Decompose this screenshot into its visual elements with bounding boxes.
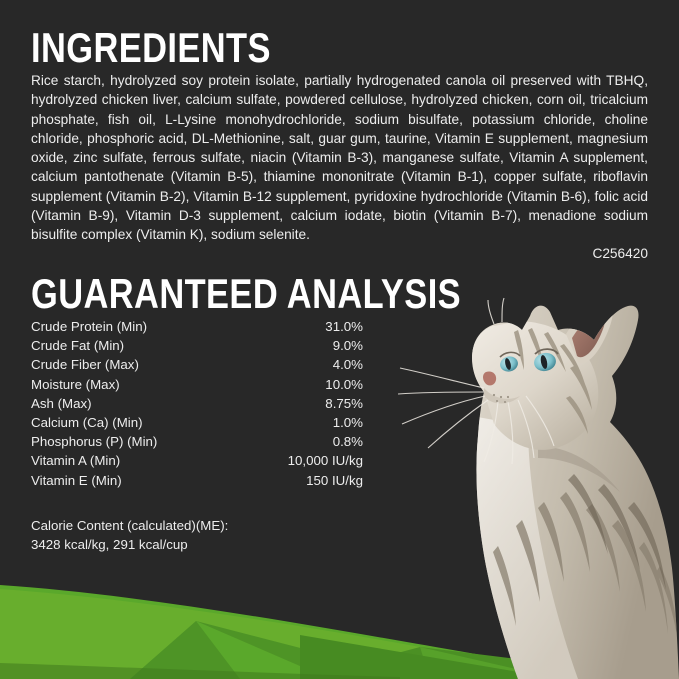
ingredients-text: Rice starch, hydrolyzed soy protein isol… [31, 73, 648, 242]
ingredients-text-block: Rice starch, hydrolyzed soy protein isol… [31, 71, 648, 263]
analysis-label: Crude Fiber (Max) [31, 355, 239, 374]
cat-body [398, 296, 679, 679]
guaranteed-analysis-table: Crude Protein (Min)31.0%Crude Fat (Min)9… [31, 317, 363, 490]
analysis-value: 150 IU/kg [239, 471, 363, 490]
analysis-label: Vitamin E (Min) [31, 471, 239, 490]
analysis-value: 8.75% [239, 394, 363, 413]
analysis-value: 0.8% [239, 432, 363, 451]
analysis-value: 10,000 IU/kg [239, 451, 363, 470]
analysis-label: Crude Fat (Min) [31, 336, 239, 355]
table-row: Moisture (Max)10.0% [31, 375, 363, 394]
table-row: Crude Protein (Min)31.0% [31, 317, 363, 336]
guaranteed-analysis-body: Crude Protein (Min)31.0%Crude Fat (Min)9… [31, 317, 363, 490]
analysis-label: Calcium (Ca) (Min) [31, 413, 239, 432]
analysis-value: 1.0% [239, 413, 363, 432]
analysis-value: 9.0% [239, 336, 363, 355]
analysis-value: 10.0% [239, 375, 363, 394]
product-label-panel: INGREDIENTS Rice starch, hydrolyzed soy … [0, 0, 679, 679]
table-row: Vitamin E (Min)150 IU/kg [31, 471, 363, 490]
table-row: Ash (Max)8.75% [31, 394, 363, 413]
calorie-content-value: 3428 kcal/kg, 291 kcal/cup [31, 535, 228, 554]
analysis-label: Moisture (Max) [31, 375, 239, 394]
analysis-value: 4.0% [239, 355, 363, 374]
analysis-label: Phosphorus (P) (Min) [31, 432, 239, 451]
table-row: Crude Fiber (Max)4.0% [31, 355, 363, 374]
table-row: Calcium (Ca) (Min)1.0% [31, 413, 363, 432]
calorie-content-label: Calorie Content (calculated)(ME): [31, 516, 228, 535]
analysis-label: Crude Protein (Min) [31, 317, 239, 336]
cat-photo [398, 296, 679, 679]
table-row: Vitamin A (Min)10,000 IU/kg [31, 451, 363, 470]
analysis-label: Ash (Max) [31, 394, 239, 413]
calorie-content-block: Calorie Content (calculated)(ME): 3428 k… [31, 516, 228, 554]
analysis-value: 31.0% [239, 317, 363, 336]
table-row: Phosphorus (P) (Min)0.8% [31, 432, 363, 451]
product-code: C256420 [31, 244, 648, 263]
ingredients-heading: INGREDIENTS [31, 26, 271, 70]
cat-ear-left [488, 300, 514, 326]
guaranteed-analysis-heading: GUARANTEED ANALYSIS [31, 272, 461, 316]
analysis-label: Vitamin A (Min) [31, 451, 239, 470]
table-row: Crude Fat (Min)9.0% [31, 336, 363, 355]
